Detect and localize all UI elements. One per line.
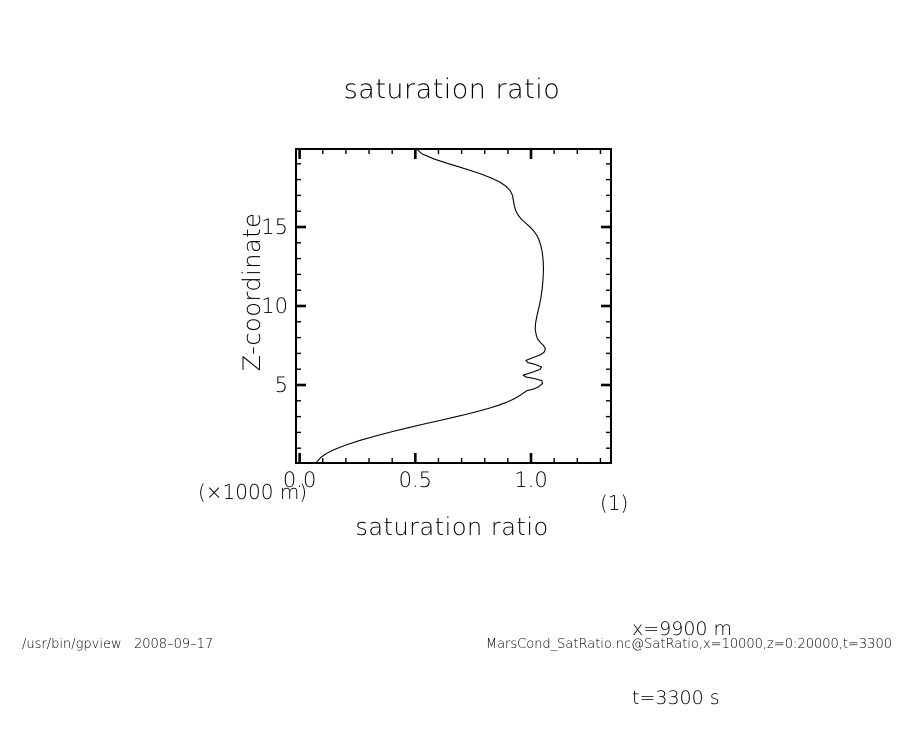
annotation-block: x=9900 m t=3300 s: [632, 572, 732, 733]
data-curve-canvas: [295, 148, 612, 464]
y-tick-label: 15: [261, 215, 288, 239]
plot-title: saturation ratio: [0, 74, 904, 105]
annotation-time: t=3300 s: [632, 687, 732, 710]
y-tick-label: 5: [275, 373, 288, 397]
saturation-ratio-curve: [316, 148, 546, 464]
gpview-plot-window: { "plot": { "title": "saturation ratio",…: [0, 0, 904, 654]
x-axis-title: saturation ratio: [0, 513, 904, 541]
y-tick-label: 10: [261, 294, 288, 318]
x-axis-ticks: [300, 148, 601, 464]
x-tick-label: 0.5: [399, 468, 432, 492]
footer-data-source: MarsCond_SatRatio.nc@SatRatio,x=10000,z=…: [486, 637, 892, 652]
x-axis-tick-labels: 0.00.51.0: [295, 468, 612, 496]
x-axis-unit-label: (1): [600, 491, 628, 515]
footer-command-and-date: /usr/bin/gpview 2008–09–17: [22, 637, 213, 652]
y-axis-ticks: [295, 148, 612, 464]
y-axis-tick-labels: 51015: [248, 148, 288, 464]
y-axis-unit-label: (×1000 m): [198, 480, 307, 504]
plot-area: [295, 148, 612, 464]
x-tick-label: 1.0: [514, 468, 547, 492]
